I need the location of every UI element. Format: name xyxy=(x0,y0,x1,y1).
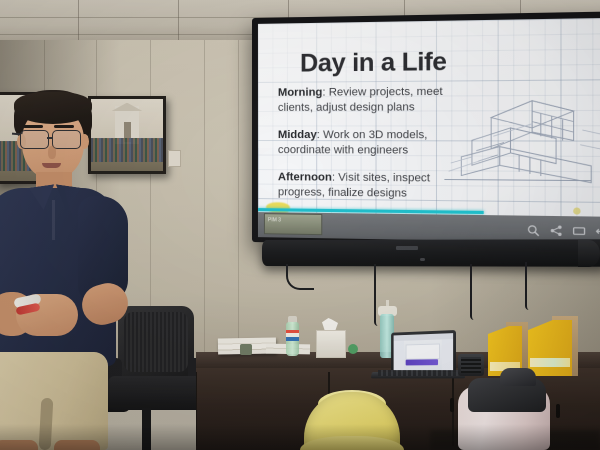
cabinet-handle[interactable] xyxy=(450,398,454,412)
zoom-icon[interactable] xyxy=(527,224,540,237)
bottle-label xyxy=(286,330,299,341)
bullet-label-afternoon: Afternoon xyxy=(278,172,332,185)
slide-toolbar[interactable] xyxy=(527,224,600,238)
slide-thumbnail[interactable]: PIM 3 xyxy=(264,213,322,235)
small-green-item xyxy=(348,344,358,354)
ear xyxy=(80,134,89,149)
eyebrow xyxy=(23,125,43,128)
eyeglasses-bridge xyxy=(47,137,53,139)
leg xyxy=(54,440,100,450)
eyeglasses-lens xyxy=(52,130,81,149)
khaki-shorts xyxy=(0,352,108,450)
laptop-screen xyxy=(394,333,453,371)
cable xyxy=(525,262,529,310)
chair-post xyxy=(142,408,151,450)
laptop-keyboard[interactable] xyxy=(378,370,458,376)
nose xyxy=(48,146,56,159)
water-bottle-spout xyxy=(500,368,536,386)
share-icon[interactable] xyxy=(550,224,563,237)
laptop[interactable] xyxy=(391,330,456,374)
slide-bullet-list: Morning: Review projects, meet clients, … xyxy=(278,84,481,215)
present-icon[interactable] xyxy=(572,225,585,238)
cabinet-handle[interactable] xyxy=(556,404,560,418)
speaker-grill xyxy=(461,357,481,373)
presenter-hair-front xyxy=(14,92,92,124)
leg xyxy=(0,440,38,450)
bullet-label-morning: Morning xyxy=(278,87,322,99)
magazine-file-holder xyxy=(528,320,572,376)
small-cup xyxy=(240,344,252,355)
eyebrow xyxy=(54,125,74,128)
presentation-room-photo: Day in a Life Morning: Review projects, … xyxy=(0,0,600,450)
cable xyxy=(286,264,314,290)
file-holder-label xyxy=(530,358,570,367)
thumbnail-label: PIM 3 xyxy=(268,217,281,223)
wall-mounted-tv[interactable]: Day in a Life Morning: Review projects, … xyxy=(252,11,600,248)
soundbar-logo xyxy=(396,246,418,250)
slide-bullet-morning: Morning: Review projects, meet clients, … xyxy=(278,84,481,115)
polo-placket xyxy=(52,200,55,240)
wall-outlet xyxy=(168,150,181,167)
slide-bullet-midday: Midday: Work on 3D models, coordinate wi… xyxy=(278,128,481,158)
slide-bullet-afternoon: Afternoon: Visit sites, inspect progress… xyxy=(278,171,481,203)
bullet-label-midday: Midday xyxy=(278,129,317,141)
eyeglasses-lens xyxy=(20,130,49,149)
soundbar-end-cap xyxy=(578,240,600,267)
tv-screen[interactable]: Day in a Life Morning: Review projects, … xyxy=(258,18,600,244)
slide-title: Day in a Life xyxy=(300,47,508,79)
tissue-box xyxy=(316,330,346,358)
laptop-accent-bar xyxy=(406,359,438,365)
soundbar xyxy=(262,239,600,266)
mouth xyxy=(42,163,61,168)
fullscreen-icon[interactable] xyxy=(596,225,600,238)
soundbar-led xyxy=(420,258,425,261)
cable xyxy=(374,264,378,326)
cable xyxy=(470,264,474,320)
